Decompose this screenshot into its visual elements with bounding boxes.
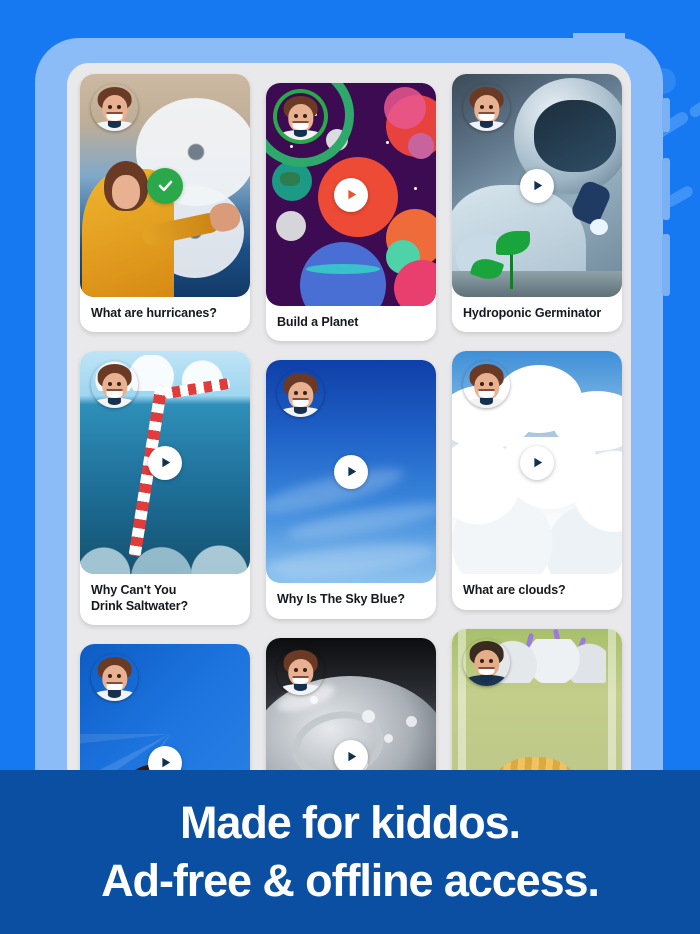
grid-column-3: Hydroponic Germinator	[452, 74, 622, 773]
play-icon	[344, 187, 359, 202]
video-thumbnail[interactable]	[266, 638, 436, 774]
video-card-title: Hydroponic Germinator	[452, 297, 622, 332]
video-card[interactable]: Why Is The Sky Blue?	[266, 360, 436, 618]
host-avatar	[91, 84, 138, 131]
video-thumbnail[interactable]	[452, 74, 622, 297]
host-avatar	[277, 93, 324, 140]
promo-banner-line-2: Ad-free & offline access.	[101, 852, 599, 910]
host-avatar	[277, 648, 324, 695]
host-avatar	[463, 361, 510, 408]
tablet-volume-down-button[interactable]	[662, 234, 670, 296]
video-card-title: Why Is The Sky Blue?	[266, 583, 436, 618]
video-card-title: Why Can't You Drink Saltwater?	[80, 574, 250, 625]
video-card-title: What are hurricanes?	[80, 297, 250, 332]
play-badge[interactable]	[520, 169, 554, 203]
tablet-volume-up-button[interactable]	[662, 158, 670, 220]
video-card-title-line1: Why Can't You	[91, 583, 239, 598]
host-avatar	[91, 361, 138, 408]
video-card-title: Build a Planet	[266, 306, 436, 341]
video-card[interactable]: What are clouds?	[452, 351, 622, 609]
sparkle-dash-icon	[688, 92, 700, 119]
video-thumbnail[interactable]	[80, 351, 250, 574]
check-icon	[156, 176, 175, 195]
host-avatar	[277, 370, 324, 417]
host-avatar	[463, 84, 510, 131]
video-thumbnail[interactable]	[452, 351, 622, 574]
play-icon	[344, 749, 359, 764]
play-icon	[158, 455, 173, 470]
host-avatar-2	[463, 639, 510, 686]
video-thumbnail[interactable]	[452, 629, 622, 774]
video-thumbnail[interactable]	[80, 74, 250, 297]
video-card-title-line2: Drink Saltwater?	[91, 599, 239, 614]
grid-column-2: Build a Planet	[266, 83, 436, 773]
play-badge[interactable]	[148, 746, 182, 773]
tablet-power-button[interactable]	[662, 98, 670, 132]
video-card[interactable]: Hydroponic Germinator	[452, 74, 622, 332]
video-card-title: What are clouds?	[452, 574, 622, 609]
play-badge[interactable]	[334, 740, 368, 774]
host-avatar	[91, 654, 138, 701]
video-card[interactable]: Why Can't You Drink Saltwater?	[80, 351, 250, 625]
play-icon	[530, 455, 545, 470]
play-badge[interactable]	[334, 178, 368, 212]
video-card[interactable]	[80, 644, 250, 773]
play-badge[interactable]	[520, 446, 554, 480]
video-card[interactable]	[266, 638, 436, 774]
promo-banner-line-1: Made for kiddos.	[180, 794, 520, 852]
tablet-mockup: What are hurricanes?	[35, 38, 663, 773]
tablet-camera-notch	[573, 33, 625, 45]
grid-column-1: What are hurricanes?	[80, 74, 250, 773]
video-thumbnail[interactable]	[80, 644, 250, 773]
watched-check-badge[interactable]	[147, 168, 183, 204]
video-card[interactable]	[452, 629, 622, 774]
play-badge[interactable]	[334, 455, 368, 489]
play-icon	[158, 755, 173, 770]
video-card[interactable]: Build a Planet	[266, 83, 436, 341]
video-thumbnail[interactable]	[266, 83, 436, 306]
video-thumbnail[interactable]	[266, 360, 436, 583]
play-badge[interactable]	[148, 446, 182, 480]
promo-banner: Made for kiddos. Ad-free & offline acces…	[0, 770, 700, 934]
tablet-screen: What are hurricanes?	[67, 63, 631, 773]
play-icon	[530, 178, 545, 193]
video-card[interactable]: What are hurricanes?	[80, 74, 250, 332]
play-icon	[344, 464, 359, 479]
